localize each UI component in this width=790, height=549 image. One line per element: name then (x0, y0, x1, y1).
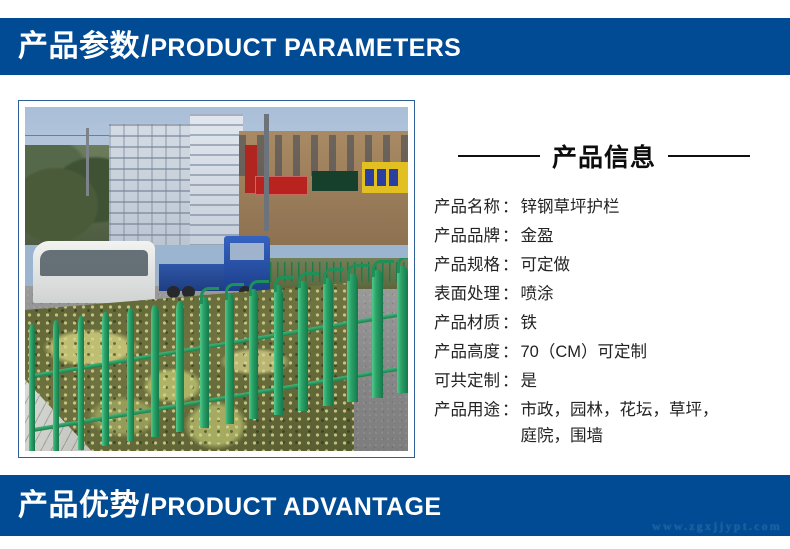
spec-row: 产品规格：可定做 (434, 250, 774, 279)
product-photo (25, 107, 408, 451)
spec-list: 产品名称：锌钢草坪护栏产品品牌：金盈产品规格：可定做表面处理：喷涂产品材质：铁产… (434, 192, 774, 451)
spec-colon: ： (500, 281, 521, 307)
photo-fence-picket (274, 285, 283, 415)
photo-apartment-block (190, 114, 244, 245)
photo-fence-picket (102, 312, 109, 445)
product-information-panel: 产品信息 产品名称：锌钢草坪护栏产品品牌：金盈产品规格：可定做表面处理：喷涂产品… (434, 138, 774, 451)
spec-label: 产品高度 (434, 339, 500, 365)
site-watermark: www.zgxjjypt.com (652, 519, 782, 534)
spec-value-line: 金盈 (521, 227, 554, 245)
product-parameters-heading: 产品参数 / PRODUCT PARAMETERS (0, 32, 461, 62)
spec-row: 产品材质：铁 (434, 308, 774, 337)
spec-colon: ： (500, 223, 521, 249)
photo-green-fence (25, 258, 408, 451)
photo-fence-picket (53, 320, 59, 451)
photo-fence-picket (249, 289, 258, 419)
product-advantage-band: 产品优势 / PRODUCT ADVANTAGE www.zgxjjypt.co… (0, 475, 790, 536)
photo-fence-picket-curve (397, 258, 409, 273)
band-heading-cn: 产品优势 (18, 491, 140, 521)
photo-utility-pole (264, 114, 269, 231)
spec-row: 产品名称：锌钢草坪护栏 (434, 192, 774, 221)
photo-sign-character (389, 169, 398, 186)
photo-fence-picket (397, 266, 408, 393)
spec-value-line: 70（CM）可定制 (521, 343, 648, 361)
photo-red-banner-sign (255, 176, 309, 195)
spec-label: 表面处理 (434, 281, 500, 307)
spec-value: 锌钢草坪护栏 (521, 194, 620, 220)
photo-fence-picket-curve (347, 264, 369, 280)
spec-value-line: 锌钢草坪护栏 (521, 198, 620, 216)
spec-value: 70（CM）可定制 (521, 339, 648, 365)
spec-row: 产品高度：70（CM）可定制 (434, 337, 774, 366)
spec-value: 市政，园林，花坛，草坪，庭院，围墙 (521, 397, 719, 449)
spec-value-line: 是 (521, 372, 538, 390)
photo-yellow-shop-sign (362, 162, 408, 193)
photo-fence-picket (200, 297, 208, 428)
spec-row: 产品用途：市政，园林，花坛，草坪，庭院，围墙 (434, 395, 774, 450)
spec-colon: ： (500, 252, 521, 278)
photo-fence-picket-curve (249, 280, 269, 296)
page-title: 产品信息 (552, 138, 656, 174)
band-heading-cn: 产品参数 (18, 32, 140, 62)
spec-value: 是 (521, 368, 538, 394)
photo-fence-picket (127, 308, 134, 441)
spec-colon: ： (500, 368, 521, 394)
photo-fence-picket (78, 316, 84, 450)
photo-apartment-block (109, 124, 193, 244)
spec-row: 表面处理：喷涂 (434, 279, 774, 308)
photo-fence-picket-curve (225, 283, 244, 299)
spec-value-line: 可定做 (521, 256, 571, 274)
spec-label: 产品用途 (434, 397, 500, 423)
photo-fence-picket-curve (372, 260, 394, 276)
spec-colon: ： (500, 397, 521, 423)
band-heading-en: PRODUCT ADVANTAGE (150, 495, 441, 520)
spec-label: 产品材质 (434, 310, 500, 336)
photo-fence-picket-curve (298, 272, 319, 288)
photo-fence-picket (347, 274, 357, 402)
product-parameters-band: 产品参数 / PRODUCT PARAMETERS (0, 18, 790, 75)
photo-fence-picket-curve (200, 287, 219, 303)
spec-colon: ： (500, 339, 521, 365)
spec-value-line: 喷涂 (521, 285, 554, 303)
title-rule-right (668, 155, 750, 157)
photo-fence-picket (225, 293, 234, 424)
photo-fence-picket (323, 278, 333, 407)
spec-value: 可定做 (521, 252, 571, 278)
photo-fence-picket (151, 305, 159, 437)
product-information-title: 产品信息 (434, 138, 774, 174)
band-heading-separator: / (140, 491, 150, 521)
photo-sign-character (377, 169, 386, 186)
photo-green-shop-sign (312, 171, 358, 192)
spec-value-line: 铁 (521, 314, 538, 332)
band-heading-separator: / (140, 32, 150, 62)
product-photo-frame (18, 100, 415, 458)
spec-label: 产品名称 (434, 194, 500, 220)
photo-utility-pole (86, 128, 89, 197)
spec-value-line: 庭院，围墙 (521, 423, 719, 449)
spec-colon: ： (500, 194, 521, 220)
spec-value: 金盈 (521, 223, 554, 249)
spec-label: 产品规格 (434, 252, 500, 278)
spec-row: 产品品牌：金盈 (434, 221, 774, 250)
spec-value: 喷涂 (521, 281, 554, 307)
photo-sign-character (365, 169, 374, 186)
spec-label: 可共定制 (434, 368, 500, 394)
photo-fence-picket (29, 324, 35, 451)
spec-value-line: 市政，园林，花坛，草坪， (521, 401, 719, 419)
photo-fence-picket-curve (323, 268, 344, 284)
photo-fence-picket-curve (274, 276, 294, 292)
photo-fence-picket (176, 301, 184, 433)
spec-colon: ： (500, 310, 521, 336)
band-heading-en: PRODUCT PARAMETERS (150, 36, 461, 61)
spec-row: 可共定制：是 (434, 366, 774, 395)
photo-fence-picket (298, 281, 308, 410)
title-rule-left (458, 155, 540, 157)
spec-value: 铁 (521, 310, 538, 336)
photo-fence-picket (372, 270, 383, 398)
spec-label: 产品品牌 (434, 223, 500, 249)
product-advantage-heading: 产品优势 / PRODUCT ADVANTAGE (0, 491, 441, 521)
